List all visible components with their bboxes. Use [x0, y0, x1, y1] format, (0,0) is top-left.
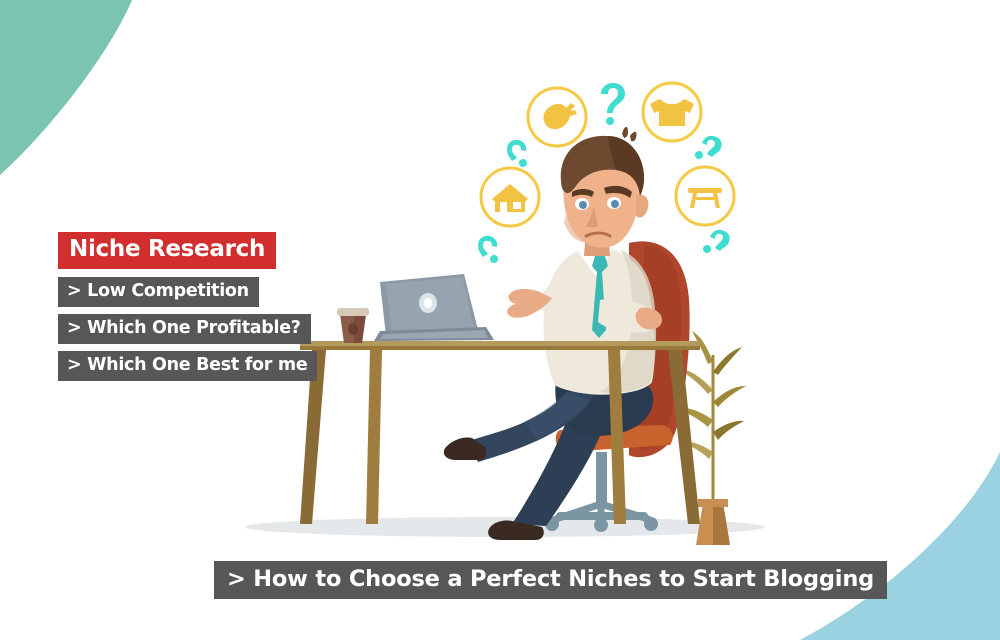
question-mark-lower-right: [703, 230, 730, 253]
bullet-which-one-profitable: > Which One Profitable?: [58, 314, 311, 344]
niche-research-panel: Niche Research > Low Competition > Which…: [58, 232, 317, 381]
question-mark-upper-right: [695, 136, 722, 159]
coffee-cup: [337, 308, 369, 343]
question-mark-upper-left: [507, 140, 527, 167]
poster-canvas: Niche Research > Low Competition > Which…: [0, 0, 1000, 640]
bullet-low-competition: > Low Competition: [58, 277, 259, 307]
bottom-caption: > How to Choose a Perfect Niches to Star…: [214, 561, 887, 599]
house-icon: [481, 168, 539, 226]
panel-title: Niche Research: [58, 232, 276, 269]
tshirt-icon: [643, 83, 701, 141]
question-mark-lower-left: [478, 236, 498, 263]
table-icon: [676, 167, 734, 225]
bullet-which-one-best-for-me: > Which One Best for me: [58, 351, 317, 381]
drumstick-icon: [528, 88, 586, 146]
question-mark-large-top: [601, 83, 625, 125]
laptop: [374, 274, 494, 341]
